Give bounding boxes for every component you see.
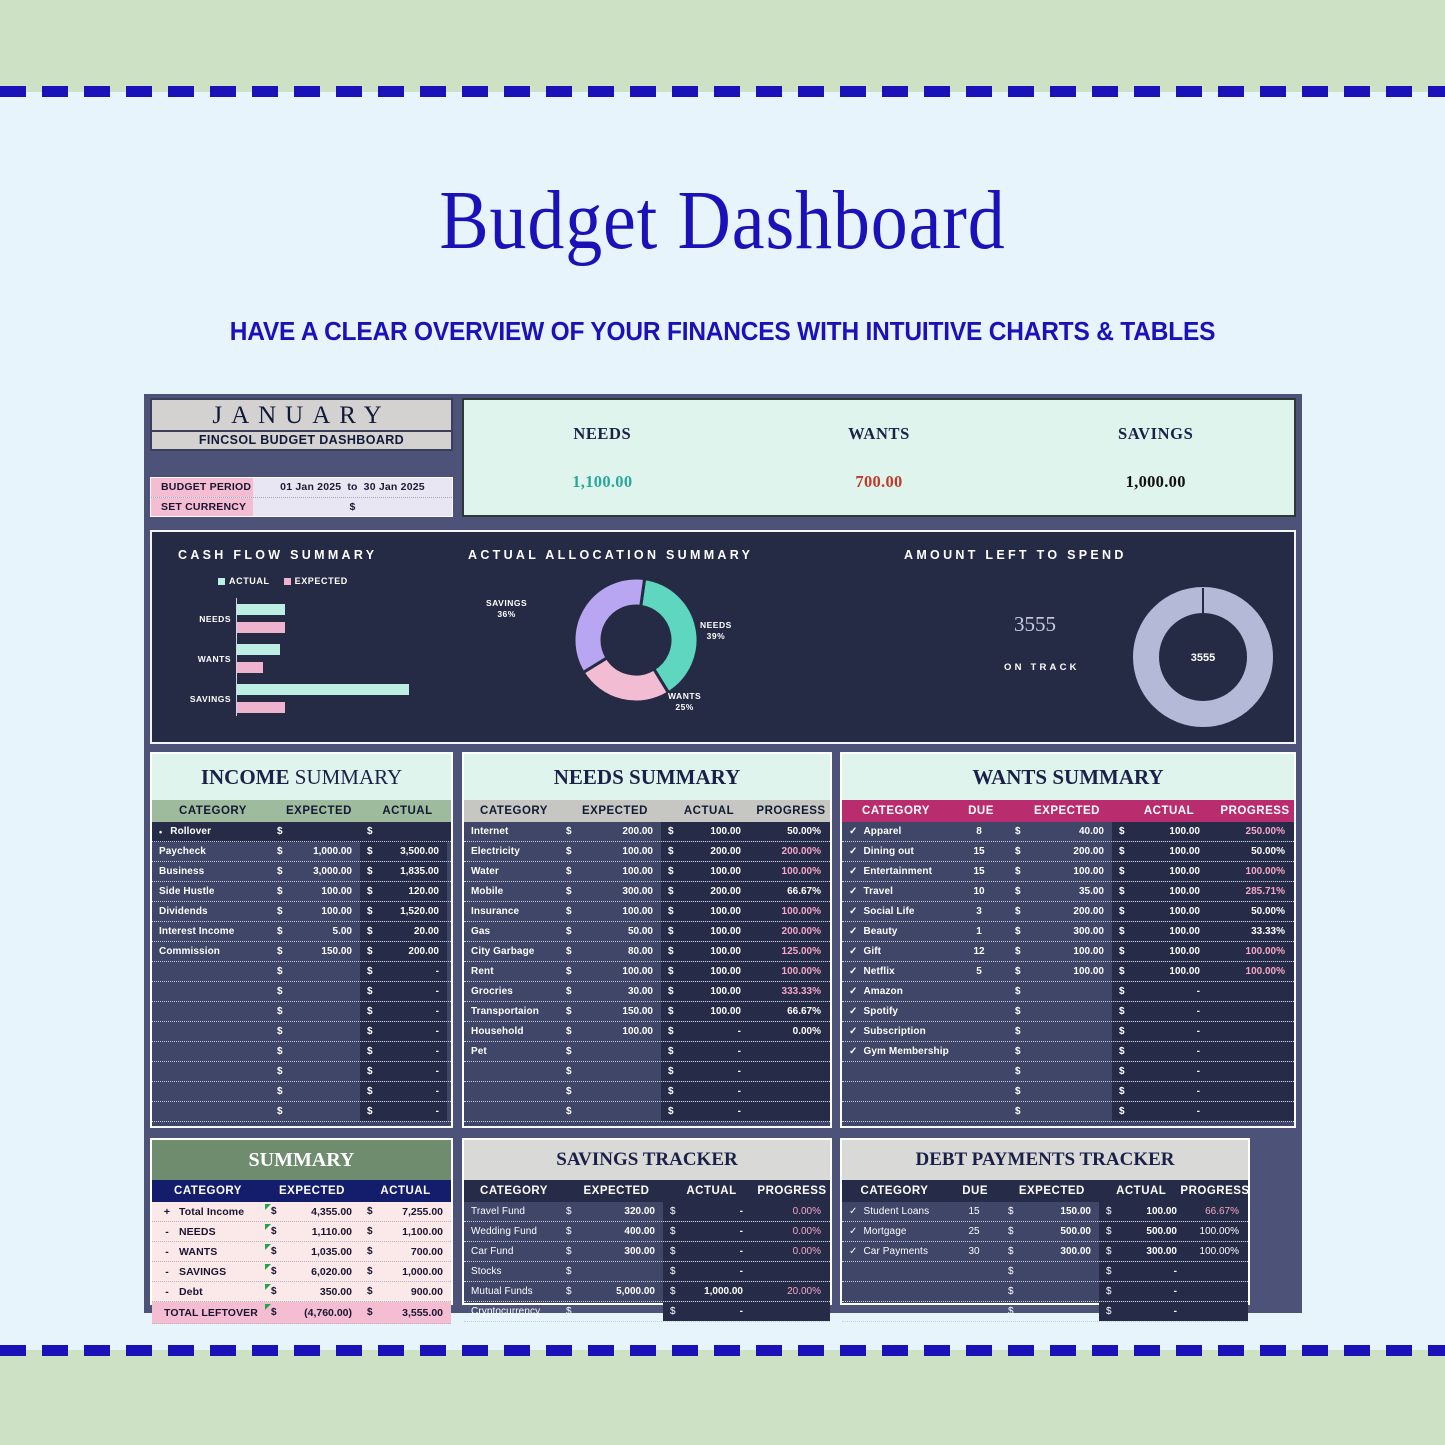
category-label: SAVINGS: [179, 1266, 226, 1278]
needs-category: Insurance: [464, 902, 559, 921]
gauge-center-label: 3555: [1191, 652, 1215, 664]
progress-value: 100.00%: [1185, 1242, 1248, 1261]
check-icon[interactable]: ✓: [849, 946, 857, 957]
table-row[interactable]: ✓Car Payments30$300.00$300.00100.00%: [842, 1242, 1248, 1262]
table-row[interactable]: $$-: [842, 1082, 1294, 1102]
needs-column-headers: CATEGORYEXPECTEDACTUALPROGRESS: [464, 800, 830, 822]
currency-symbol: $: [360, 1202, 378, 1221]
table-row[interactable]: Transportaion$150.00$100.0066.67%: [464, 1002, 830, 1022]
currency-symbol: $: [1112, 962, 1132, 981]
wants-column-headers: CATEGORYDUEEXPECTEDACTUALPROGRESS: [842, 800, 1294, 822]
currency-symbol: $: [360, 822, 378, 841]
currency-symbol: $: [270, 862, 288, 881]
due-value: 1: [950, 922, 1008, 941]
table-row[interactable]: City Garbage$80.00$100.00125.00%: [464, 942, 830, 962]
expected-value: 100.00: [288, 902, 360, 921]
table-row[interactable]: +Total Income$4,355.00$7,255.00: [152, 1202, 451, 1222]
due-value: [950, 1102, 1008, 1121]
table-row[interactable]: Rent$100.00$100.00100.00%: [464, 962, 830, 982]
currency-symbol: $: [1008, 922, 1028, 941]
expected-value: [288, 822, 360, 841]
needs-category: Gas: [464, 922, 559, 941]
summary-rows: +Total Income$4,355.00$7,255.00-NEEDS$1,…: [152, 1202, 451, 1324]
category-label: Car Payments: [863, 1246, 928, 1257]
income-summary-table: INCOME SUMMARY CATEGORYEXPECTEDACTUAL •R…: [150, 752, 453, 1128]
table-row[interactable]: -SAVINGS$6,020.00$1,000.00: [152, 1262, 451, 1282]
currency-symbol: $: [1112, 1082, 1132, 1101]
currency-symbol: $: [661, 1082, 679, 1101]
needs-category: Rent: [464, 962, 559, 981]
currency-symbol: $: [1112, 822, 1132, 841]
currency-symbol: $: [1008, 842, 1028, 861]
savings-column-headers: CATEGORYEXPECTEDACTUALPROGRESS: [464, 1180, 830, 1202]
currency-symbol: $: [270, 922, 288, 941]
savings-tracker-table: SAVINGS TRACKER CATEGORYEXPECTEDACTUALPR…: [462, 1138, 832, 1305]
currency-symbol: $: [661, 982, 679, 1001]
currency-symbol: $: [1112, 1022, 1132, 1041]
actual-value: -: [378, 1022, 447, 1041]
kpi-savings: SAVINGS1,000.00: [1017, 400, 1294, 515]
budget-period-row: BUDGET PERIOD 01 Jan 2025to30 Jan 2025: [151, 478, 452, 497]
needs-rows: Internet$200.00$100.0050.00%Electricity$…: [464, 822, 830, 1122]
currency-symbol: $: [1001, 1222, 1021, 1241]
progress-value: [749, 1102, 830, 1121]
table-row[interactable]: Household$100.00$-0.00%: [464, 1022, 830, 1042]
bar-actual: [237, 604, 285, 615]
table-row[interactable]: -WANTS$1,035.00$700.00: [152, 1242, 451, 1262]
expected-value: 1,035.00: [284, 1242, 360, 1261]
category-label: Total Income: [179, 1206, 244, 1218]
table-row[interactable]: $$-: [152, 1042, 451, 1062]
currency-symbol: $: [1112, 882, 1132, 901]
currency-symbol: $: [1008, 1002, 1028, 1021]
poster-page: Budget Dashboard HAVE A CLEAR OVERVIEW O…: [0, 0, 1445, 1445]
table-row[interactable]: ✓Apparel8$40.00$100.00250.00%: [842, 822, 1294, 842]
table-row[interactable]: Cryptocurrency$$-: [464, 1302, 830, 1322]
check-icon[interactable]: ✓: [849, 906, 857, 917]
debt-col-expected: EXPECTED: [1003, 1180, 1100, 1202]
needs-category: Mobile: [464, 882, 559, 901]
progress-value: [1208, 1082, 1294, 1101]
check-icon[interactable]: ✓: [849, 866, 857, 877]
currency-symbol: $: [1112, 1042, 1132, 1061]
divider-top: [0, 86, 1445, 97]
actual-value: 200.00: [378, 942, 447, 961]
actual-value: 100.00: [679, 922, 749, 941]
category-label: Student Loans: [863, 1206, 929, 1217]
table-row[interactable]: Electricity$100.00$200.00200.00%: [464, 842, 830, 862]
table-row[interactable]: $$-: [842, 1262, 1248, 1282]
table-row[interactable]: Mobile$300.00$200.0066.67%: [464, 882, 830, 902]
debt-col-actual: ACTUAL: [1100, 1180, 1182, 1202]
income-title-bold: INCOME: [201, 765, 290, 789]
budget-dashboard: JANUARY FINCSOL BUDGET DASHBOARD BUDGET …: [144, 394, 1302, 1313]
currency-symbol: $: [360, 882, 378, 901]
needs-category: City Garbage: [464, 942, 559, 961]
expected-value: 400.00: [581, 1222, 663, 1241]
category-label: Social Life: [863, 906, 914, 917]
category-label: Subscription: [863, 1026, 925, 1037]
period-separator: to: [341, 481, 363, 493]
currency-symbol: $: [1008, 1082, 1028, 1101]
currency-symbol: $: [559, 1202, 581, 1221]
currency-symbol: $: [270, 1082, 288, 1101]
table-row[interactable]: ✓Travel10$35.00$100.00285.71%: [842, 882, 1294, 902]
table-row[interactable]: ✓Netflix5$100.00$100.00100.00%: [842, 962, 1294, 982]
kpi-row: NEEDS1,100.00WANTS700.00SAVINGS1,000.00: [464, 400, 1294, 515]
table-row[interactable]: Internet$200.00$100.0050.00%: [464, 822, 830, 842]
progress-value: 333.33%: [749, 982, 830, 1001]
actual-value: -: [1117, 1302, 1185, 1321]
expected-value: [288, 1002, 360, 1021]
currency-symbol: $: [661, 1002, 679, 1021]
progress-value: 100.00%: [749, 902, 830, 921]
expected-value: 500.00: [1021, 1222, 1099, 1241]
table-row[interactable]: $$-: [152, 962, 451, 982]
wants-category: ✓Gift: [842, 942, 950, 961]
actual-value: -: [378, 1042, 447, 1061]
summary-total-row[interactable]: TOTAL LEFTOVER$(4,760.00)$3,555.00: [152, 1302, 451, 1324]
expected-value: [1021, 1282, 1099, 1301]
table-row[interactable]: Insurance$100.00$100.00100.00%: [464, 902, 830, 922]
savings-category: Mutual Funds: [464, 1282, 559, 1301]
wants-category: [842, 1082, 950, 1101]
progress-value: 100.00%: [749, 862, 830, 881]
income-category: [152, 962, 270, 981]
cash-flow-chart: CASH FLOW SUMMARY ACTUALEXPECTED NEEDSWA…: [178, 548, 478, 716]
income-category: Paycheck: [152, 842, 270, 861]
progress-value: 33.33%: [1208, 922, 1294, 941]
table-row[interactable]: $$-: [842, 1302, 1248, 1322]
table-row[interactable]: Side Hustle$100.00$120.00: [152, 882, 451, 902]
currency-symbol: $: [360, 942, 378, 961]
table-row[interactable]: $$-: [152, 1002, 451, 1022]
progress-value: 100.00%: [1208, 942, 1294, 961]
kpi-wants: WANTS700.00: [741, 400, 1018, 515]
bar-label: SAVINGS: [190, 694, 231, 704]
page-title: Budget Dashboard: [87, 172, 1359, 269]
savings-rows: Travel Fund$320.00$-0.00%Wedding Fund$40…: [464, 1202, 830, 1322]
expected-value: 80.00: [579, 942, 661, 961]
check-icon[interactable]: ✓: [849, 1026, 857, 1037]
table-row[interactable]: Mutual Funds$5,000.00$1,000.0020.00%: [464, 1282, 830, 1302]
period-start: 01 Jan 2025: [280, 481, 341, 493]
progress-value: [1185, 1282, 1248, 1301]
actual-value: 200.00: [679, 882, 749, 901]
wants-col-category: CATEGORY: [842, 800, 950, 822]
currency-symbol: $: [1008, 862, 1028, 881]
debt-category: [842, 1282, 947, 1301]
table-row[interactable]: $$-: [842, 1102, 1294, 1122]
expected-value: 200.00: [579, 822, 661, 841]
savings-category: Stocks: [464, 1262, 559, 1281]
currency-symbol: $: [270, 942, 288, 961]
category-label: Side Hustle: [159, 886, 215, 897]
table-row[interactable]: ✓Subscription$$-: [842, 1022, 1294, 1042]
actual-value: -: [378, 982, 447, 1001]
progress-value: 66.67%: [749, 882, 830, 901]
table-row[interactable]: Gas$50.00$100.00200.00%: [464, 922, 830, 942]
table-row[interactable]: -Debt$350.00$900.00: [152, 1282, 451, 1302]
actual-value: 300.00: [1117, 1242, 1185, 1261]
check-icon[interactable]: ✓: [849, 1006, 857, 1017]
table-row[interactable]: Water$100.00$100.00100.00%: [464, 862, 830, 882]
due-value: 5: [950, 962, 1008, 981]
progress-value: 20.00%: [751, 1282, 830, 1301]
expected-value: 1,000.00: [288, 842, 360, 861]
expected-value: [581, 1262, 663, 1281]
category-label: Rollover: [170, 826, 211, 837]
check-icon[interactable]: ✓: [849, 966, 857, 977]
wants-rows: ✓Apparel8$40.00$100.00250.00%✓Dining out…: [842, 822, 1294, 1122]
table-row[interactable]: $$-: [842, 1062, 1294, 1082]
currency-symbol: $: [360, 902, 378, 921]
actual-value: -: [1132, 1002, 1208, 1021]
actual-value: -: [1132, 982, 1208, 1001]
check-icon[interactable]: ✓: [849, 1226, 857, 1237]
debt-col-category: CATEGORY: [842, 1180, 947, 1202]
currency-symbol: $: [360, 1242, 378, 1261]
currency-symbol: $: [270, 822, 288, 841]
currency-symbol: $: [264, 1282, 284, 1301]
needs-category: Internet: [464, 822, 559, 841]
income-category: Business: [152, 862, 270, 881]
currency-symbol: $: [1112, 842, 1132, 861]
expected-value: [1028, 1062, 1112, 1081]
actual-value: -: [378, 1102, 447, 1121]
income-col-category: CATEGORY: [152, 800, 274, 822]
progress-value: 100.00%: [1208, 862, 1294, 881]
table-row[interactable]: ✓Amazon$$-: [842, 982, 1294, 1002]
sign-icon: -: [159, 1246, 175, 1258]
table-row[interactable]: Dividends$100.00$1,520.00: [152, 902, 451, 922]
expected-value: 300.00: [1028, 922, 1112, 941]
table-row[interactable]: Commission$150.00$200.00: [152, 942, 451, 962]
progress-value: [1185, 1262, 1248, 1281]
currency-symbol: $: [1112, 862, 1132, 881]
table-row[interactable]: •Rollover$$: [152, 822, 451, 842]
table-row[interactable]: Business$3,000.00$1,835.00: [152, 862, 451, 882]
allocation-label-savings: SAVINGS36%: [486, 598, 527, 621]
wants-category: [842, 1062, 950, 1081]
progress-value: [1208, 1102, 1294, 1121]
progress-value: 285.71%: [1208, 882, 1294, 901]
actual-value: -: [679, 1062, 749, 1081]
debt-tracker-table: DEBT PAYMENTS TRACKER CATEGORYDUEEXPECTE…: [840, 1138, 1250, 1305]
table-row[interactable]: $$-: [464, 1062, 830, 1082]
due-value: 15: [950, 842, 1008, 861]
currency-symbol: $: [559, 862, 579, 881]
wants-category: ✓Apparel: [842, 822, 950, 841]
currency-symbol: $: [264, 1202, 284, 1221]
set-currency-value[interactable]: $: [253, 501, 452, 513]
budget-period-card: BUDGET PERIOD 01 Jan 2025to30 Jan 2025 S…: [150, 477, 453, 517]
check-icon[interactable]: ✓: [849, 986, 857, 997]
budget-period-label: BUDGET PERIOD: [151, 478, 253, 497]
check-icon[interactable]: ✓: [849, 826, 857, 837]
currency-symbol: $: [270, 1102, 288, 1121]
currency-symbol: $: [663, 1302, 681, 1321]
progress-value: [1208, 1002, 1294, 1021]
expected-value: 4,355.00: [284, 1202, 360, 1221]
table-row[interactable]: ✓Spotify$$-: [842, 1002, 1294, 1022]
bar-group-savings: SAVINGS: [237, 684, 466, 713]
progress-value: [749, 1042, 830, 1061]
currency-symbol: $: [1099, 1302, 1117, 1321]
table-row[interactable]: ✓Social Life3$200.00$100.0050.00%: [842, 902, 1294, 922]
table-row[interactable]: Wedding Fund$400.00$-0.00%: [464, 1222, 830, 1242]
actual-value: 100.00: [1132, 822, 1208, 841]
dashboard-header-strip: JANUARY FINCSOL BUDGET DASHBOARD BUDGET …: [144, 394, 1302, 524]
progress-value: 0.00%: [751, 1242, 830, 1261]
table-row[interactable]: ✓Dining out15$200.00$100.0050.00%: [842, 842, 1294, 862]
currency-symbol: $: [1112, 942, 1132, 961]
currency-symbol: $: [559, 982, 579, 1001]
income-title: INCOME SUMMARY: [152, 754, 451, 800]
due-value: [947, 1262, 1001, 1281]
check-icon[interactable]: ✓: [849, 926, 857, 937]
table-row[interactable]: ✓Beauty1$300.00$100.0033.33%: [842, 922, 1294, 942]
currency-symbol: $: [1099, 1262, 1117, 1281]
check-icon[interactable]: ✓: [849, 1206, 857, 1217]
currency-symbol: $: [360, 922, 378, 941]
page-subtitle: HAVE A CLEAR OVERVIEW OF YOUR FINANCES W…: [29, 318, 1416, 347]
wants-category: ✓Entertainment: [842, 862, 950, 881]
table-row[interactable]: $$-: [152, 982, 451, 1002]
check-icon[interactable]: ✓: [849, 1046, 857, 1057]
table-row[interactable]: $$-: [152, 1022, 451, 1042]
expected-value: [288, 1062, 360, 1081]
progress-value: 0.00%: [749, 1022, 830, 1041]
currency-symbol: $: [270, 1062, 288, 1081]
table-row[interactable]: Grocries$30.00$100.00333.33%: [464, 982, 830, 1002]
progress-value: 100.00%: [1208, 962, 1294, 981]
summary-category: +Total Income: [152, 1202, 264, 1221]
expected-value: 30.00: [579, 982, 661, 1001]
savings-col-category: CATEGORY: [464, 1180, 564, 1202]
savings-col-actual: ACTUAL: [669, 1180, 754, 1202]
wants-category: ✓Beauty: [842, 922, 950, 941]
check-icon[interactable]: ✓: [849, 1246, 857, 1257]
expected-value: 300.00: [1021, 1242, 1099, 1261]
table-row[interactable]: Stocks$$-: [464, 1262, 830, 1282]
actual-value: 1,835.00: [378, 862, 447, 881]
actual-value: 100.00: [679, 862, 749, 881]
debt-rows: ✓Student Loans15$150.00$100.0066.67%✓Mor…: [842, 1202, 1248, 1322]
currency-symbol: $: [264, 1302, 284, 1323]
table-row[interactable]: -NEEDS$1,110.00$1,100.00: [152, 1222, 451, 1242]
debt-category: [842, 1262, 947, 1281]
income-category: [152, 982, 270, 1001]
bar-label: WANTS: [198, 654, 231, 664]
actual-value: -: [1117, 1282, 1185, 1301]
table-row[interactable]: ✓Entertainment15$100.00$100.00100.00%: [842, 862, 1294, 882]
needs-category: Transportaion: [464, 1002, 559, 1021]
table-row[interactable]: Paycheck$1,000.00$3,500.00: [152, 842, 451, 862]
wants-summary-table: WANTS SUMMARY CATEGORYDUEEXPECTEDACTUALP…: [840, 752, 1296, 1128]
table-row[interactable]: ✓Gym Membership$$-: [842, 1042, 1294, 1062]
legend-item-expected: EXPECTED: [284, 576, 348, 586]
needs-category: Water: [464, 862, 559, 881]
table-row[interactable]: Interest Income$5.00$20.00: [152, 922, 451, 942]
needs-col-progress: PROGRESS: [752, 800, 830, 822]
table-row[interactable]: $$-: [842, 1282, 1248, 1302]
expected-value: [1021, 1302, 1099, 1321]
expected-value: 200.00: [1028, 842, 1112, 861]
wants-category: [842, 1102, 950, 1121]
bar-expected: [237, 702, 285, 713]
legend-item-actual: ACTUAL: [218, 576, 270, 586]
expected-value: 100.00: [579, 842, 661, 861]
status-badge: ON TRACK: [1004, 662, 1080, 673]
income-category: [152, 1082, 270, 1101]
table-row[interactable]: $$-: [464, 1102, 830, 1122]
check-icon[interactable]: ✓: [849, 886, 857, 897]
bar-actual: [237, 644, 280, 655]
table-row[interactable]: Pet$$-: [464, 1042, 830, 1062]
actual-value: -: [679, 1042, 749, 1061]
expected-value: 100.00: [1028, 862, 1112, 881]
actual-value: 100.00: [1132, 962, 1208, 981]
savings-category: Wedding Fund: [464, 1222, 559, 1241]
legend-swatch-icon: [218, 578, 225, 585]
expected-value: 100.00: [579, 902, 661, 921]
currency-symbol: $: [1008, 1102, 1028, 1121]
bar-expected: [237, 662, 263, 673]
currency-symbol: $: [270, 1002, 288, 1021]
due-value: [950, 1002, 1008, 1021]
progress-value: 66.67%: [749, 1002, 830, 1021]
currency-symbol: $: [360, 1022, 378, 1041]
table-row[interactable]: $$-: [152, 1082, 451, 1102]
progress-value: 50.00%: [1208, 902, 1294, 921]
table-row[interactable]: ✓Gift12$100.00$100.00100.00%: [842, 942, 1294, 962]
income-category: [152, 1062, 270, 1081]
budget-period-value[interactable]: 01 Jan 2025to30 Jan 2025: [253, 481, 452, 493]
table-row[interactable]: Car Fund$300.00$-0.00%: [464, 1242, 830, 1262]
table-row[interactable]: ✓Student Loans15$150.00$100.0066.67%: [842, 1202, 1248, 1222]
actual-value: 500.00: [1117, 1222, 1185, 1241]
wants-category: ✓Travel: [842, 882, 950, 901]
category-label: Interest Income: [159, 926, 234, 937]
savings-category: Cryptocurrency: [464, 1302, 559, 1321]
currency-symbol: $: [1112, 1062, 1132, 1081]
wants-col-actual: ACTUAL: [1122, 800, 1216, 822]
currency-symbol: $: [1008, 982, 1028, 1001]
summary-category: -WANTS: [152, 1242, 264, 1261]
table-row[interactable]: Travel Fund$320.00$-0.00%: [464, 1202, 830, 1222]
summary-col-actual: ACTUAL: [360, 1180, 451, 1202]
currency-symbol: $: [270, 882, 288, 901]
expected-value: [581, 1302, 663, 1321]
actual-value: -: [378, 962, 447, 981]
currency-symbol: $: [661, 1042, 679, 1061]
currency-symbol: $: [661, 822, 679, 841]
expected-value: [288, 962, 360, 981]
income-column-headers: CATEGORYEXPECTEDACTUAL: [152, 800, 451, 822]
table-row[interactable]: $$-: [464, 1082, 830, 1102]
currency-symbol: $: [661, 862, 679, 881]
progress-value: 100.00%: [1185, 1222, 1248, 1241]
table-row[interactable]: ✓Mortgage25$500.00$500.00100.00%: [842, 1222, 1248, 1242]
actual-value: 100.00: [1132, 942, 1208, 961]
table-row[interactable]: $$-: [152, 1062, 451, 1082]
currency-symbol: $: [661, 942, 679, 961]
actual-value: -: [1132, 1102, 1208, 1121]
table-row[interactable]: $$-: [152, 1102, 451, 1122]
savings-col-expected: EXPECTED: [564, 1180, 669, 1202]
check-icon[interactable]: ✓: [849, 846, 857, 857]
